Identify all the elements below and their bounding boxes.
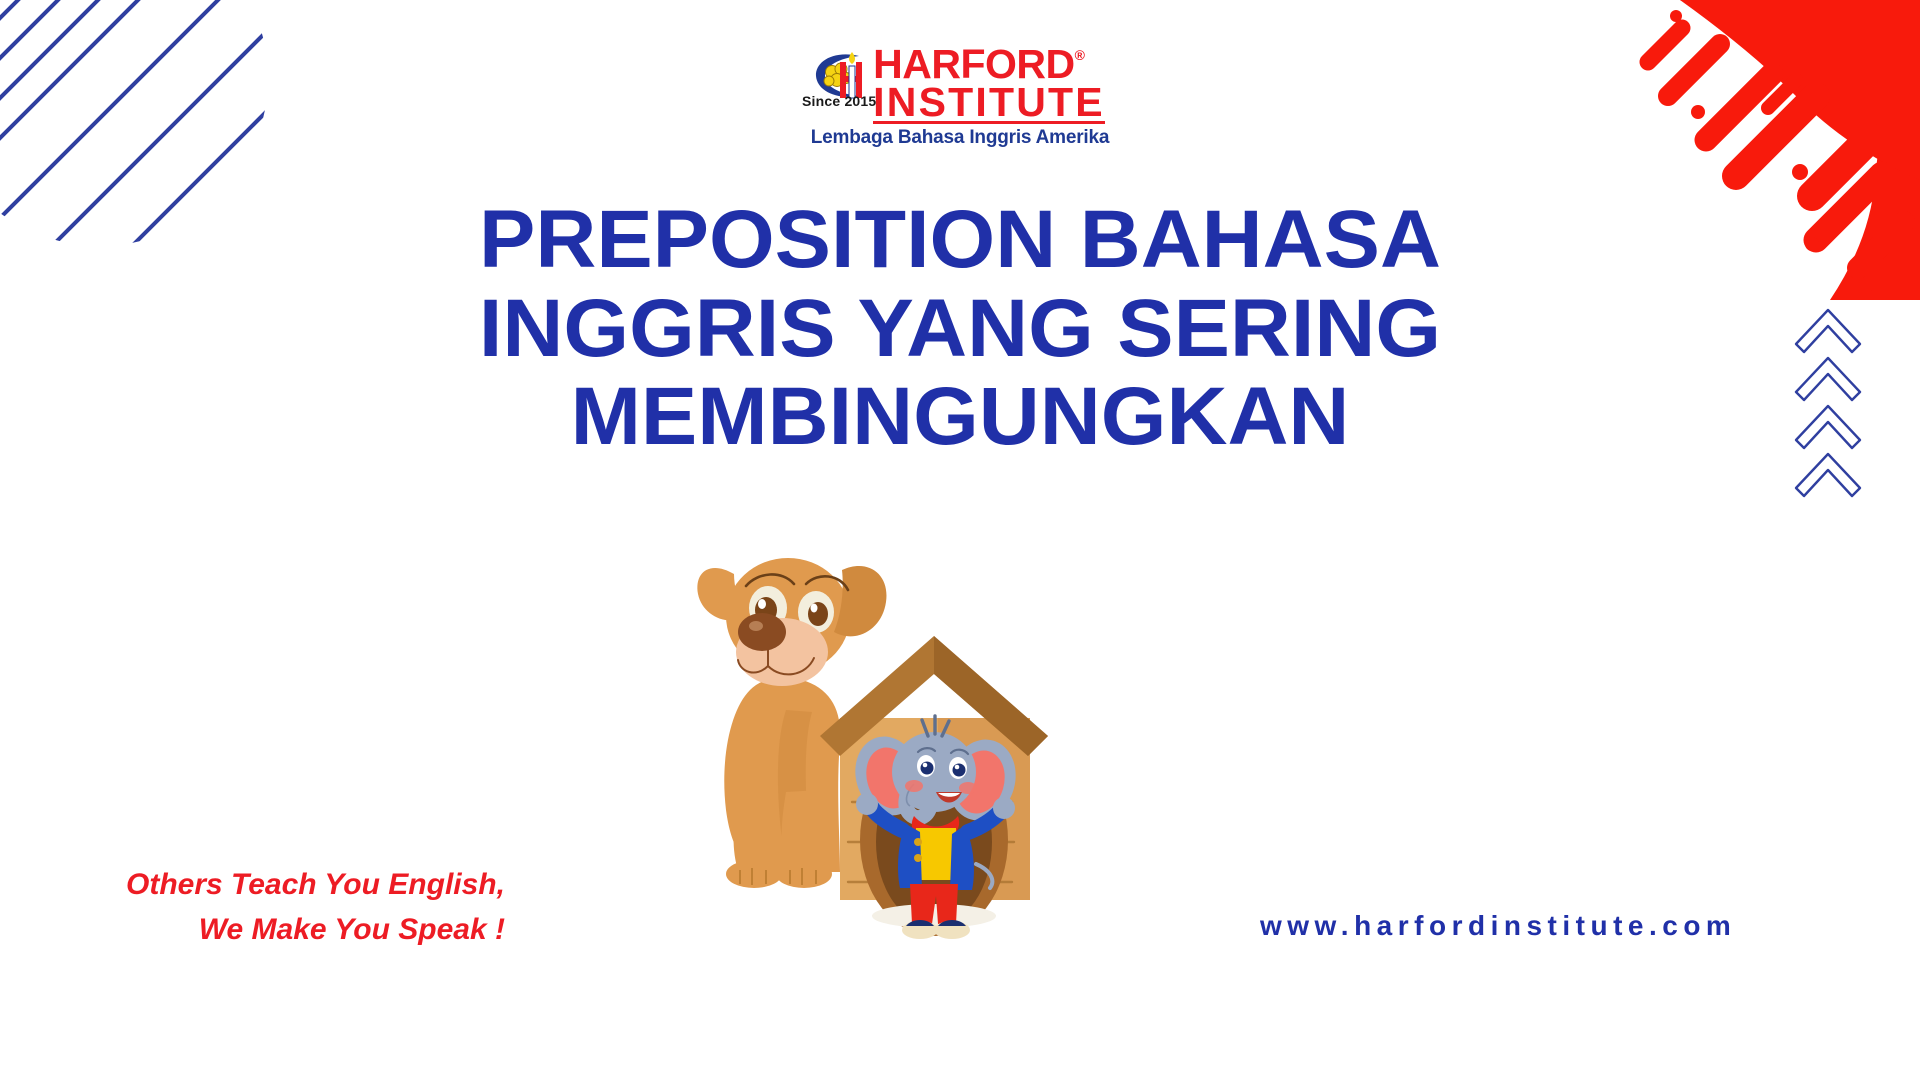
logo-main-lockup: HARFORD ® INSTITUTE xyxy=(815,46,1105,124)
page-title-line-3: MEMBINGUNGKAN xyxy=(0,373,1920,462)
slide-root: { "brand": { "logo": { "name_primary": "… xyxy=(0,0,1920,1080)
logo-name-secondary: INSTITUTE xyxy=(873,84,1105,125)
page-title: PREPOSITION BAHASA INGGRIS YANG SERING M… xyxy=(0,196,1920,462)
logo-wordmark: HARFORD ® INSTITUTE xyxy=(873,46,1105,124)
registered-mark-icon: ® xyxy=(1075,48,1085,62)
page-title-line-2: INGGRIS YANG SERING xyxy=(0,285,1920,374)
page-title-line-1: PREPOSITION BAHASA xyxy=(0,196,1920,285)
slogan-line-2: We Make You Speak ! xyxy=(126,907,505,952)
brand-slogan: Others Teach You English, We Make You Sp… xyxy=(126,862,505,952)
logo-tagline: Lembaga Bahasa Inggris Amerika xyxy=(811,127,1109,149)
logo-since-label: Since 2015 xyxy=(802,93,876,109)
dog-and-elephant-doghouse-illustration xyxy=(690,540,1250,960)
website-url[interactable]: www.harfordinstitute.com xyxy=(1260,910,1736,942)
brand-logo[interactable]: HARFORD ® INSTITUTE Since 2015 Lembaga B… xyxy=(750,46,1170,149)
slogan-line-1: Others Teach You English, xyxy=(126,868,505,901)
